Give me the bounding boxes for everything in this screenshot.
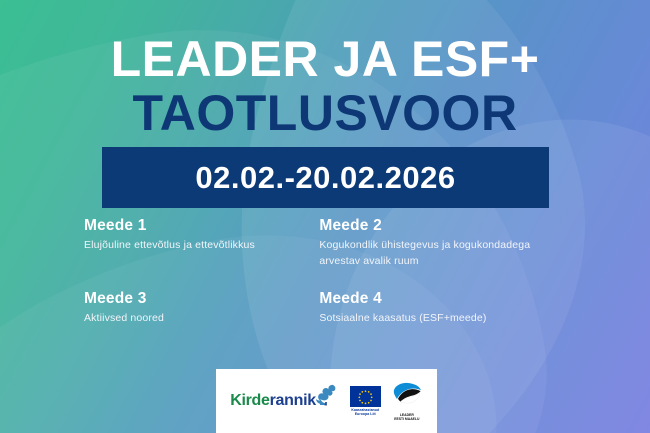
leader-logo: LEADER EESTI MAAELU [391,381,423,422]
bird-icon [314,382,340,413]
date-range-text: 02.02.-20.02.2026 [195,160,455,196]
measure-item-3: Meede 3 Aktiivsed noored [84,289,319,327]
leader-logo-caption: LEADER EESTI MAAELU [394,413,419,422]
date-range-banner: 02.02.-20.02.2026 [102,147,549,208]
eu-logo: Kaasrahastanud Euroopa Liit [350,386,381,417]
promo-banner: LEADER JA ESF+ TAOTLUSVOOR 02.02.-20.02.… [0,0,650,433]
measure-description: Elujõuline ettevõtlus ja ettevõtlikkus [84,238,311,253]
kirderannik-wordmark-part1: Kirde [230,392,269,409]
eu-flag-icon [350,386,381,407]
measure-item-4: Meede 4 Sotsiaalne kaasatus (ESF+meede) [319,289,574,327]
measures-grid: Meede 1 Elujõuline ettevõtlus ja ettevõt… [84,216,574,326]
measure-description: Kogukondlik ühistegevus ja kogukondadega… [319,238,566,268]
measure-title: Meede 2 [319,216,566,235]
measure-title: Meede 3 [84,289,311,308]
kirderannik-logo: Kirderannik [230,390,340,413]
kirderannik-wordmark-part2: rannik [270,392,316,409]
leader-swoosh-icon [391,381,423,412]
measure-description: Aktiivsed noored [84,311,311,326]
measure-item-2: Meede 2 Kogukondlik ühistegevus ja koguk… [319,216,574,269]
measure-description: Sotsiaalne kaasatus (ESF+meede) [319,311,566,326]
measures-row-2: Meede 3 Aktiivsed noored Meede 4 Sotsiaa… [84,289,574,327]
measure-item-1: Meede 1 Elujõuline ettevõtlus ja ettevõt… [84,216,319,269]
eu-logo-caption: Kaasrahastanud Euroopa Liit [351,408,379,417]
headline-line-2: TAOTLUSVOOR [0,88,650,138]
measures-row-1: Meede 1 Elujõuline ettevõtlus ja ettevõt… [84,216,574,269]
measure-title: Meede 4 [319,289,566,308]
headline-line-1: LEADER JA ESF+ [0,34,650,84]
headline: LEADER JA ESF+ TAOTLUSVOOR [0,34,650,138]
eu-caption-line-2: Euroopa Liit [351,412,379,416]
kirderannik-wordmark: Kirderannik [230,392,316,410]
measure-title: Meede 1 [84,216,311,235]
leader-caption-line-2: EESTI MAAELU [394,417,419,421]
logo-bar: Kirderannik [216,369,437,433]
